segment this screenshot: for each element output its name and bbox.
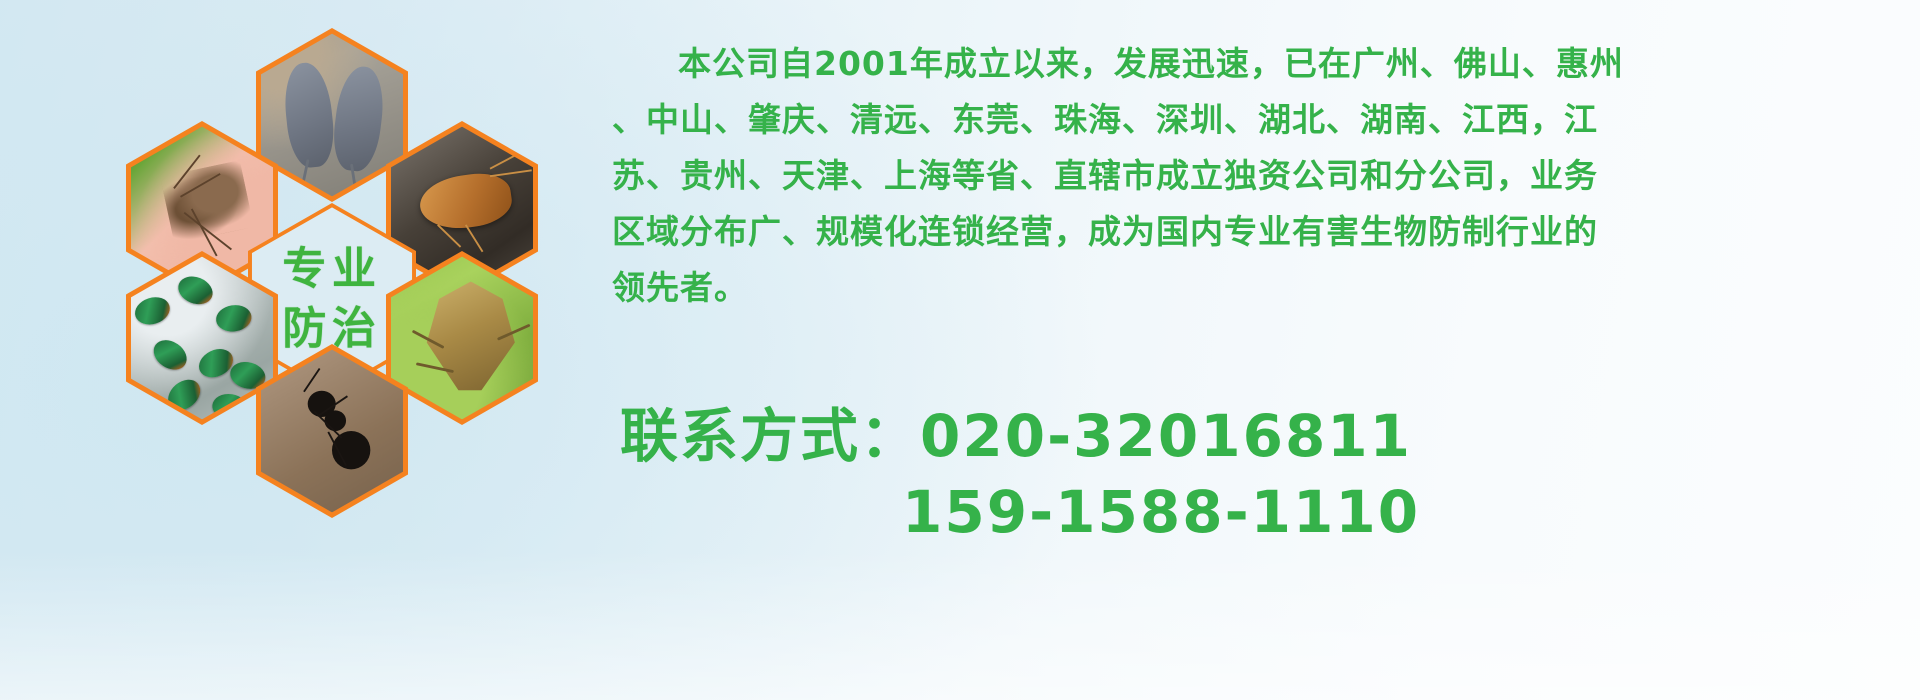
promo-banner: 专业 防治: [0, 0, 1920, 700]
intro-line-2: 、中山、肇庆、清远、东莞、珠海、深圳、湖北、湖南、江西，江: [612, 92, 1844, 148]
honeycomb-cluster: 专业 防治: [88, 6, 588, 566]
hex-cell-ant[interactable]: [256, 344, 408, 518]
hex-cell-rats[interactable]: [256, 28, 408, 202]
banner-content: 本公司自2001年成立以来，发展迅速，已在广州、佛山、惠州 、中山、肇庆、清远、…: [612, 0, 1902, 700]
intro-line-3: 苏、贵州、天津、上海等省、直辖市成立独资公司和分公司，业务: [612, 148, 1844, 204]
intro-line-4: 区域分布广、规模化连锁经营，成为国内专业有害生物防制行业的: [612, 204, 1844, 260]
ant-photo: [261, 350, 403, 513]
stink-bug-photo: [391, 257, 533, 420]
intro-line-5: 领先者。: [612, 260, 1844, 316]
company-intro-paragraph: 本公司自2001年成立以来，发展迅速，已在广州、佛山、惠州 、中山、肇庆、清远、…: [612, 36, 1844, 316]
center-label: 专业 防治: [282, 245, 381, 353]
contact-label: 联系方式：: [620, 402, 920, 470]
flies-photo: [131, 257, 273, 420]
contact-phone-mobile[interactable]: 159-1588-1110: [620, 474, 1860, 550]
contact-phone-landline[interactable]: 020-32016811: [920, 402, 1412, 470]
contact-block: 联系方式：020-32016811 159-1588-1110: [620, 398, 1860, 550]
rats-photo: [261, 34, 403, 197]
intro-line-1: 本公司自2001年成立以来，发展迅速，已在广州、佛山、惠州: [612, 36, 1844, 92]
center-label-line1: 专业: [282, 243, 381, 295]
contact-landline-row: 联系方式：020-32016811: [620, 398, 1860, 474]
